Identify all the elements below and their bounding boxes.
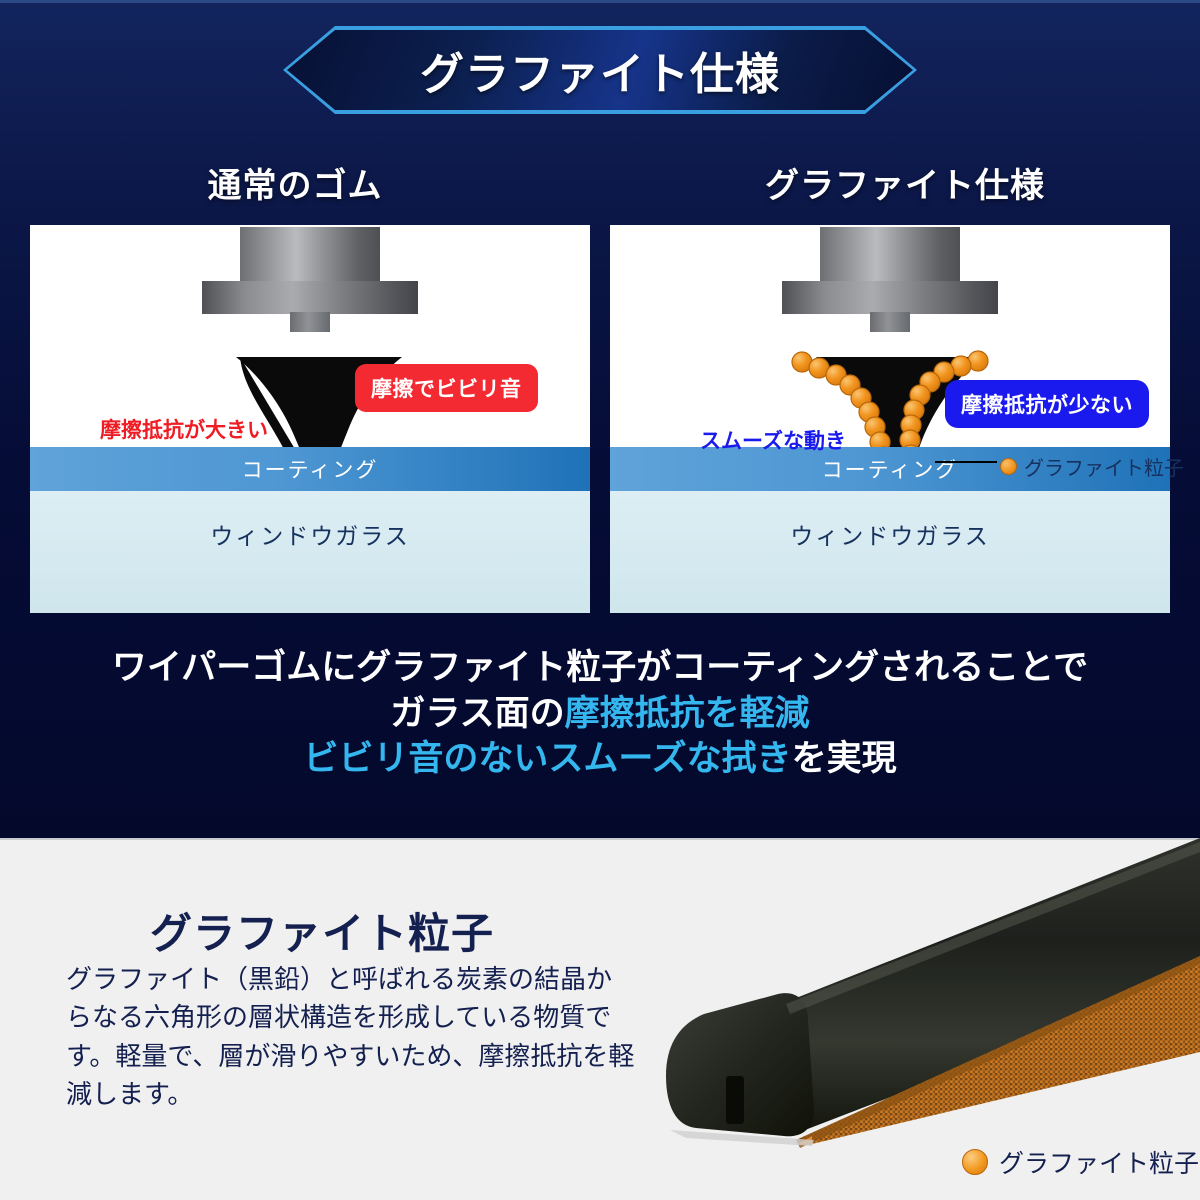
desc-line-3-post: を実現 <box>792 739 897 778</box>
left-coating-label: コーティング <box>242 454 379 484</box>
right-low-friction-badge: 摩擦抵抗が少ない <box>945 380 1149 428</box>
right-glass-label: ウィンドウガラス <box>790 517 990 551</box>
graphite-particle-icon <box>962 1149 988 1175</box>
page-title: グラファイト仕様 <box>420 38 780 102</box>
particle-legend-label: グラファイト粒子 <box>1024 452 1184 481</box>
desc-line-3-highlight-2: スムーズな拭き <box>548 739 791 778</box>
particle-leader-line <box>935 461 997 463</box>
desc-line-3: ビビリ音のないスムーズな拭きを実現 <box>0 736 1200 782</box>
right-arrow-caption: スムーズな動き <box>700 425 846 455</box>
banner-inner-fill: グラファイト仕様 <box>287 30 913 110</box>
left-glass-label: ウィンドウガラス <box>210 517 410 551</box>
right-panel-title: グラファイト仕様 <box>610 158 1200 207</box>
left-friction-noise-badge: 摩擦でビビリ音 <box>355 364 538 412</box>
header-banner: グラファイト仕様 <box>283 26 917 114</box>
desc-line-2-highlight: 摩擦抵抗を軽減 <box>565 694 810 733</box>
left-arrow-caption: 摩擦抵抗が大きい <box>100 414 268 444</box>
left-glass-layer: ウィンドウガラス <box>30 491 590 613</box>
desc-line-2-pre: ガラス面の <box>390 694 564 733</box>
left-coating-layer: コーティング <box>30 447 590 491</box>
holder-neck <box>290 312 330 332</box>
bottom-particle-legend: グラファイト粒子 <box>962 1144 1199 1180</box>
infographic-page: グラファイト仕様 通常のゴム グラファイト仕様 <box>0 0 1200 1200</box>
bottom-legend-label: グラファイト粒子 <box>999 1144 1199 1180</box>
particle-inline-legend: グラファイト粒子 <box>1000 452 1184 481</box>
right-glass-layer: ウィンドウガラス <box>610 491 1170 613</box>
holder-flange <box>202 281 418 314</box>
desc-line-2: ガラス面の摩擦抵抗を軽減 <box>0 691 1200 737</box>
top-comparison-section: グラファイト仕様 通常のゴム グラファイト仕様 <box>0 0 1200 838</box>
summary-description: ワイパーゴムにグラファイト粒子がコーティングされることで ガラス面の摩擦抵抗を軽… <box>0 645 1200 782</box>
left-panel-title: 通常のゴム <box>0 158 590 207</box>
bottom-body-text: グラファイト（黒鉛）と呼ばれる炭素の結晶からなる六角形の層状構造を形成している物… <box>66 960 636 1114</box>
graphite-particle-icon <box>1000 458 1017 475</box>
bottom-heading: グラファイト粒子 <box>150 900 494 961</box>
right-coating-label: コーティング <box>822 454 959 484</box>
desc-line-1: ワイパーゴムにグラファイト粒子がコーティングされることで <box>0 645 1200 691</box>
desc-line-3-highlight-1: ビビリ音のない <box>303 739 548 778</box>
holder-upper-cylinder <box>240 227 380 285</box>
